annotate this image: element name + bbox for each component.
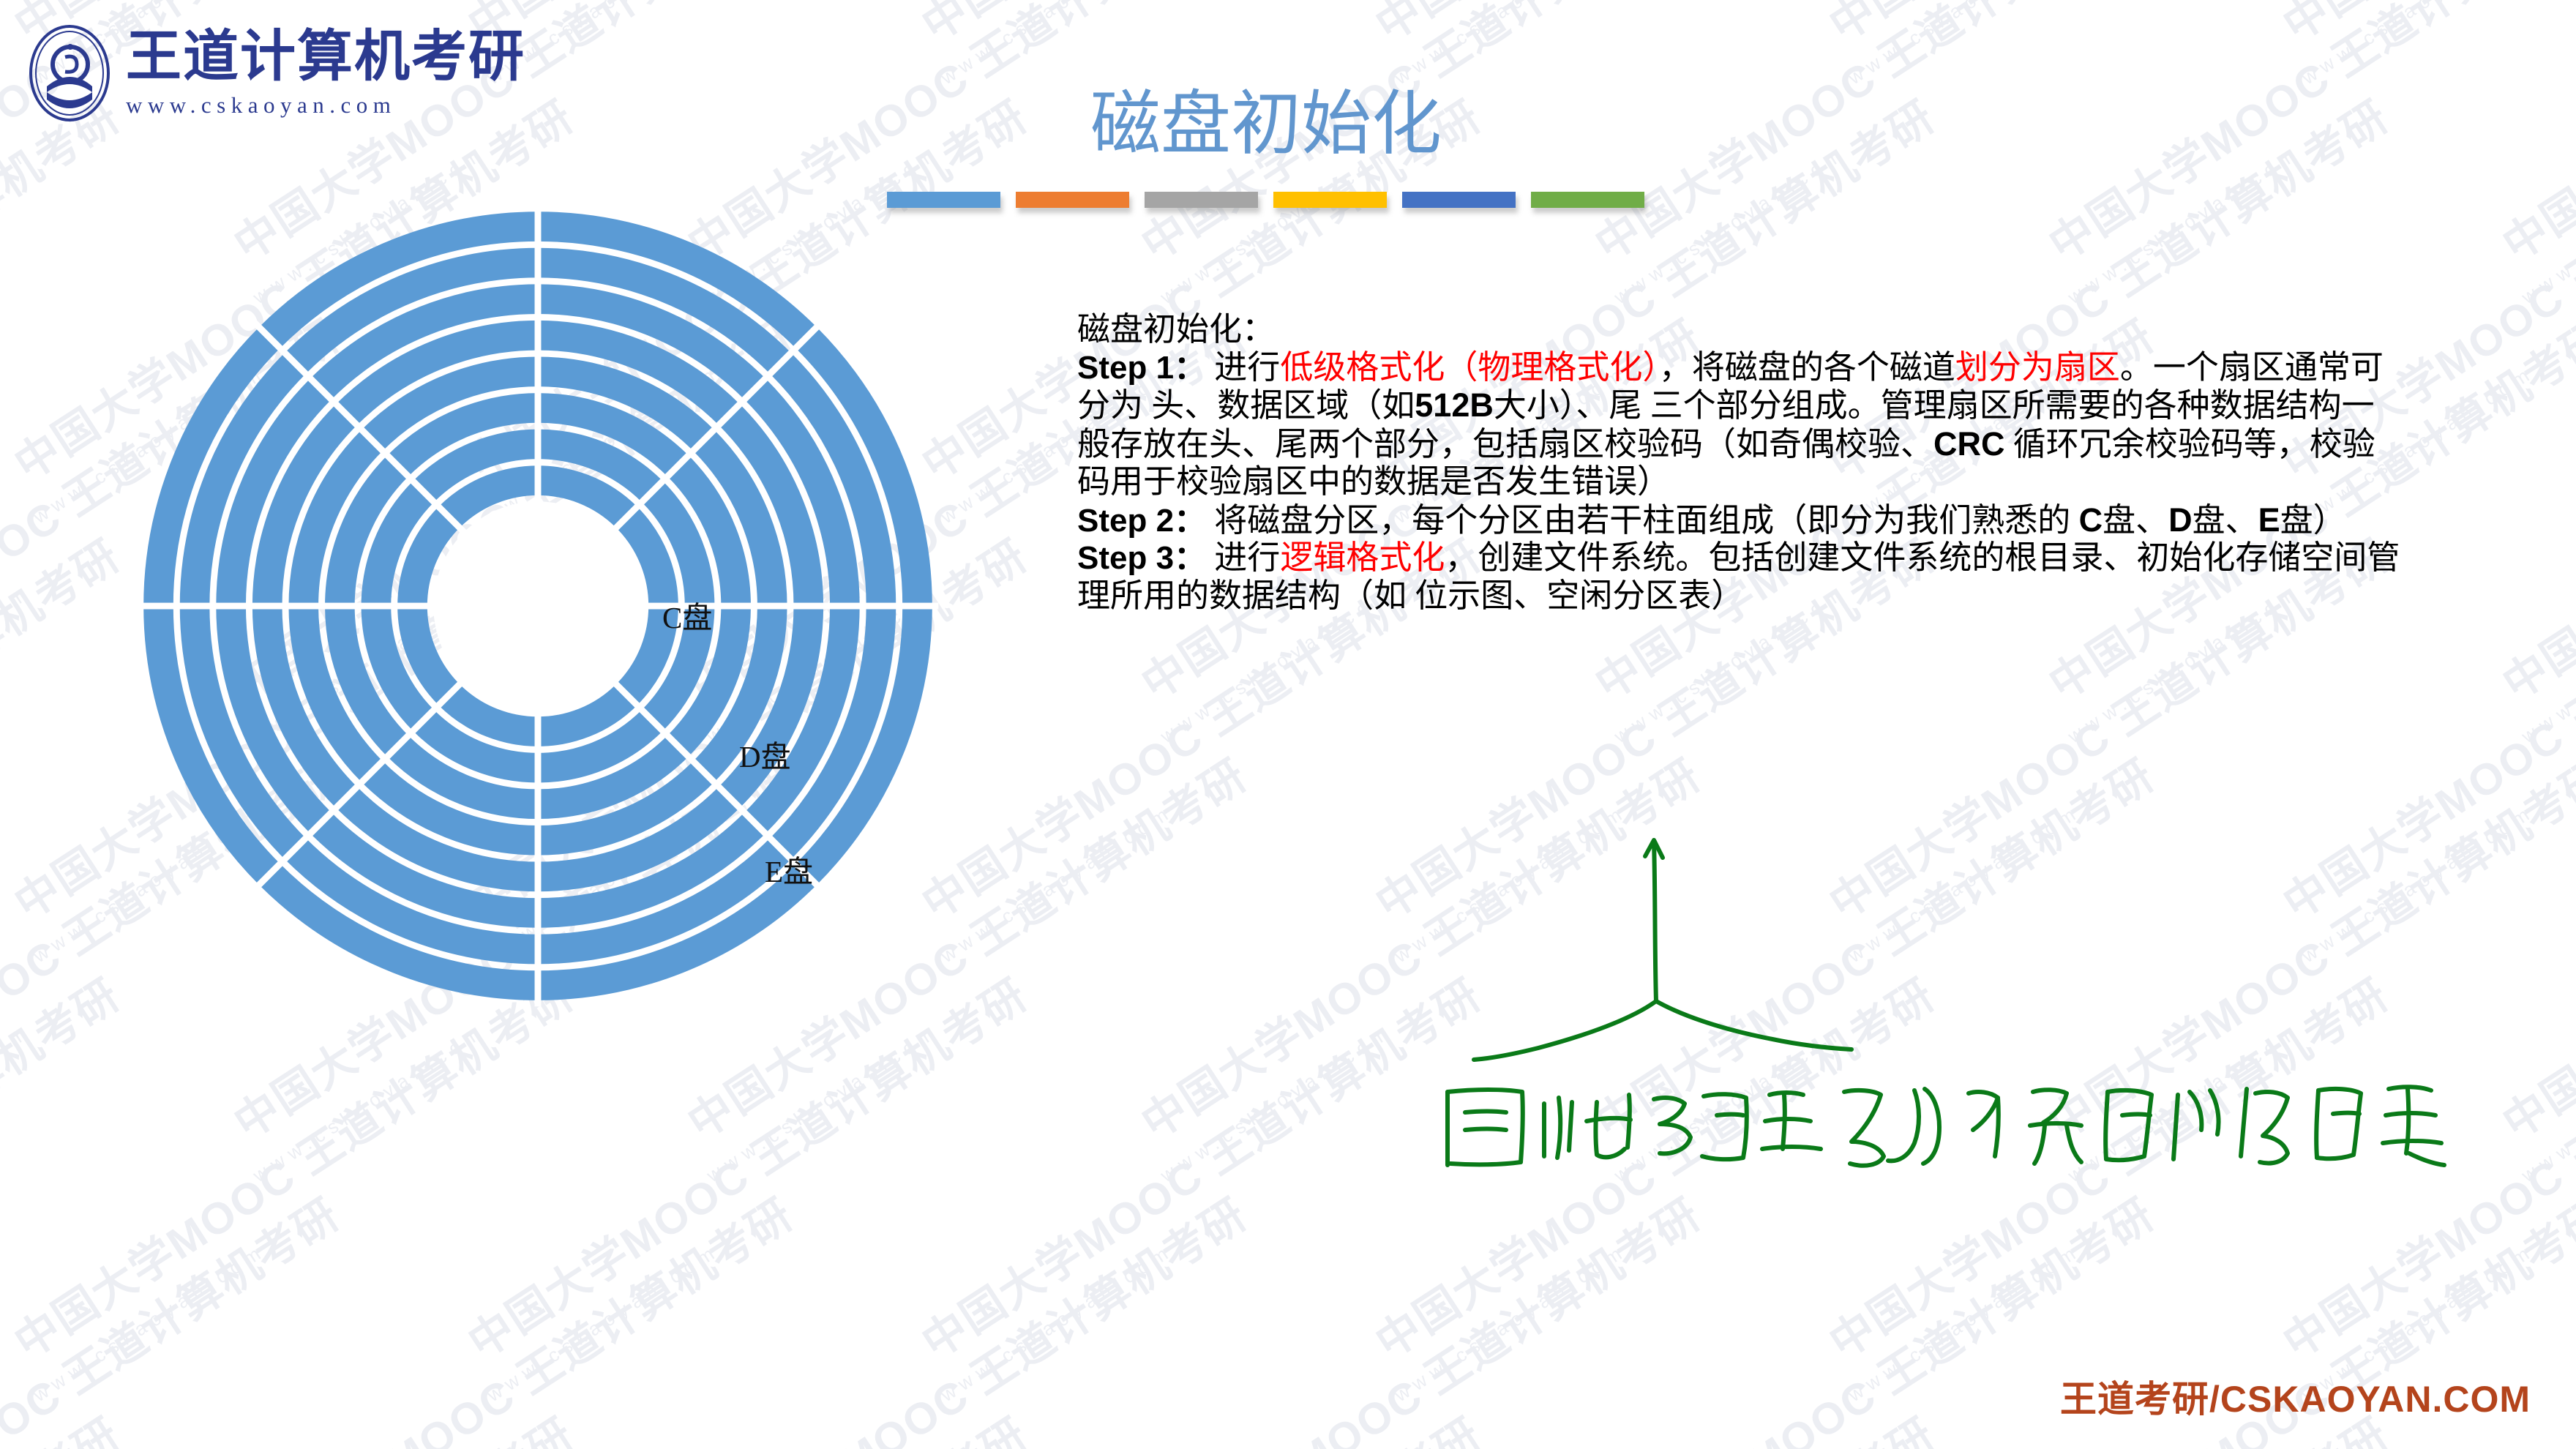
watermark-url: www.cskaoyan.com — [1844, 800, 2085, 967]
watermark-text: 中国大学MOOC 王道计算机考研 — [1361, 1399, 1945, 1449]
watermark-text: 中国大学MOOC 王道计算机考研 — [1815, 0, 2399, 53]
page-title: 磁盘初始化 — [834, 88, 1698, 162]
watermark-url: www.cskaoyan.com — [1156, 1019, 1397, 1187]
logo-title: 王道计算机考研 — [126, 29, 525, 85]
disk-label-d: D盘 — [739, 732, 791, 776]
watermark-text: 中国大学MOOC 王道计算机考研 — [1361, 960, 1945, 1371]
watermark-url: www.cskaoyan.com — [1610, 1019, 1851, 1187]
watermark-text: 中国大学MOOC 王道计算机考研 — [2488, 0, 2576, 273]
watermark-url: www.cskaoyan.com — [937, 1239, 1177, 1407]
body-heading: 磁盘初始化： — [1077, 311, 2402, 349]
disk-spindle-hole — [433, 501, 643, 711]
watermark-url: www.cskaoyan.com — [0, 1019, 36, 1187]
watermark-text: 中国大学MOOC 王道计算机考研 — [454, 1399, 1038, 1449]
watermark-text: 中国大学MOOC 王道计算机考研 — [1361, 0, 1945, 53]
watermark-url: www.cskaoyan.com — [2517, 141, 2576, 309]
watermark-text: 中国大学MOOC 王道计算机考研 — [2488, 302, 2576, 712]
watermark-url: www.cskaoyan.com — [2517, 1019, 2576, 1187]
footer-brand: 王道考研/CSKAOYAN.COM — [2060, 1370, 2531, 1423]
watermark-url: www.cskaoyan.com — [1844, 1239, 2085, 1407]
watermark-url: www.cskaoyan.com — [2064, 141, 2304, 309]
watermark-url: www.cskaoyan.com — [1390, 0, 1631, 89]
watermark-text: 中国大学MOOC 王道计算机考研 — [1581, 741, 2165, 1151]
watermark-text: 中国大学MOOC 王道计算机考研 — [220, 1180, 804, 1449]
watermark-url: www.cskaoyan.com — [2298, 800, 2539, 967]
watermark-text: 中国大学MOOC 王道计算机考研 — [0, 1399, 130, 1449]
watermark-text: 中国大学MOOC 王道计算机考研 — [0, 1399, 584, 1449]
watermark-url: www.cskaoyan.com — [249, 1019, 490, 1187]
watermark-url: www.cskaoyan.com — [483, 1239, 724, 1407]
watermark-text: 中国大学MOOC 王道计算机考研 — [2269, 0, 2576, 53]
watermark-text: 中国大学MOOC 王道计算机考研 — [907, 1399, 1491, 1449]
watermark-url: www.cskaoyan.com — [1156, 141, 1397, 309]
watermark-url: www.cskaoyan.com — [937, 0, 1177, 89]
title-bar-green — [1531, 192, 1644, 208]
watermark-url: www.cskaoyan.com — [1390, 800, 1631, 967]
watermark-text: 中国大学MOOC 王道计算机考研 — [907, 960, 1491, 1371]
watermark-url: www.cskaoyan.com — [2064, 1019, 2304, 1187]
watermark-text: 中国大学MOOC 王道计算机考研 — [673, 1180, 1257, 1449]
watermark-url: www.cskaoyan.com — [703, 1019, 943, 1187]
disk-label-e: E盘 — [765, 847, 813, 891]
watermark-text: 中国大学MOOC 王道计算机考研 — [2034, 741, 2576, 1151]
watermark-url: www.cskaoyan.com — [2298, 0, 2539, 89]
watermark-url: www.cskaoyan.com — [937, 800, 1177, 967]
title-bar-indigo — [1402, 192, 1516, 208]
title-bar-gray — [1145, 192, 1258, 208]
watermark-text: 中国大学MOOC 王道计算机考研 — [2034, 0, 2576, 273]
watermark-url: www.cskaoyan.com — [1390, 1239, 1631, 1407]
watermark-text: 中国大学MOOC 王道计算机考研 — [0, 1180, 350, 1449]
watermark-text: 中国大学MOOC 王道计算机考研 — [1127, 741, 1711, 1151]
body-text-block: 磁盘初始化： Step 1： 进行低级格式化（物理格式化），将磁盘的各个磁道划分… — [1077, 311, 2402, 615]
body-step2: Step 2： 将磁盘分区，每个分区由若干柱面组成（即分为我们熟悉的 C盘、D盘… — [1077, 501, 2402, 540]
slide-canvas: 中国大学MOOC 王道计算机考研www.cskaoyan.com中国大学MOOC… — [0, 0, 2576, 1449]
logo-url: www.cskaoyan.com — [126, 92, 525, 119]
title-bar-yellow — [1273, 192, 1387, 208]
watermark-text: 中国大学MOOC 王道计算机考研 — [907, 0, 1491, 53]
title-bar-blue — [887, 192, 1000, 208]
title-bar-orange — [1016, 192, 1129, 208]
watermark-url: www.cskaoyan.com — [1844, 0, 2085, 89]
disk-label-c: C盘 — [662, 593, 712, 637]
watermark-url: www.cskaoyan.com — [2517, 580, 2576, 748]
watermark-text: 中国大学MOOC 王道计算机考研 — [1127, 1180, 1711, 1449]
watermark-text: 中国大学MOOC 王道计算机考研 — [454, 0, 1038, 53]
watermark-url: www.cskaoyan.com — [1610, 141, 1851, 309]
watermark-text: 中国大学MOOC 王道计算机考研 — [2488, 741, 2576, 1151]
handwritten-green-note — [1412, 834, 2525, 1178]
disk-platter-diagram — [110, 187, 966, 1036]
body-step3: Step 3： 进行逻辑格式化，创建文件系统。包括创建文件系统的根目录、初始化存… — [1077, 539, 2402, 615]
watermark-text: 中国大学MOOC 王道计算机考研 — [2269, 960, 2576, 1371]
seal-icon — [25, 22, 116, 126]
watermark-url: www.cskaoyan.com — [29, 1239, 270, 1407]
body-step1: Step 1： 进行低级格式化（物理格式化），将磁盘的各个磁道划分为扇区。一个扇… — [1077, 349, 2402, 501]
watermark-text: 中国大学MOOC 王道计算机考研 — [1815, 960, 2399, 1371]
watermark-url: www.cskaoyan.com — [0, 141, 36, 309]
title-decor-bars — [887, 192, 1644, 208]
brand-logo: 王道计算机考研 www.cskaoyan.com — [25, 22, 525, 126]
watermark-url: www.cskaoyan.com — [0, 580, 36, 748]
